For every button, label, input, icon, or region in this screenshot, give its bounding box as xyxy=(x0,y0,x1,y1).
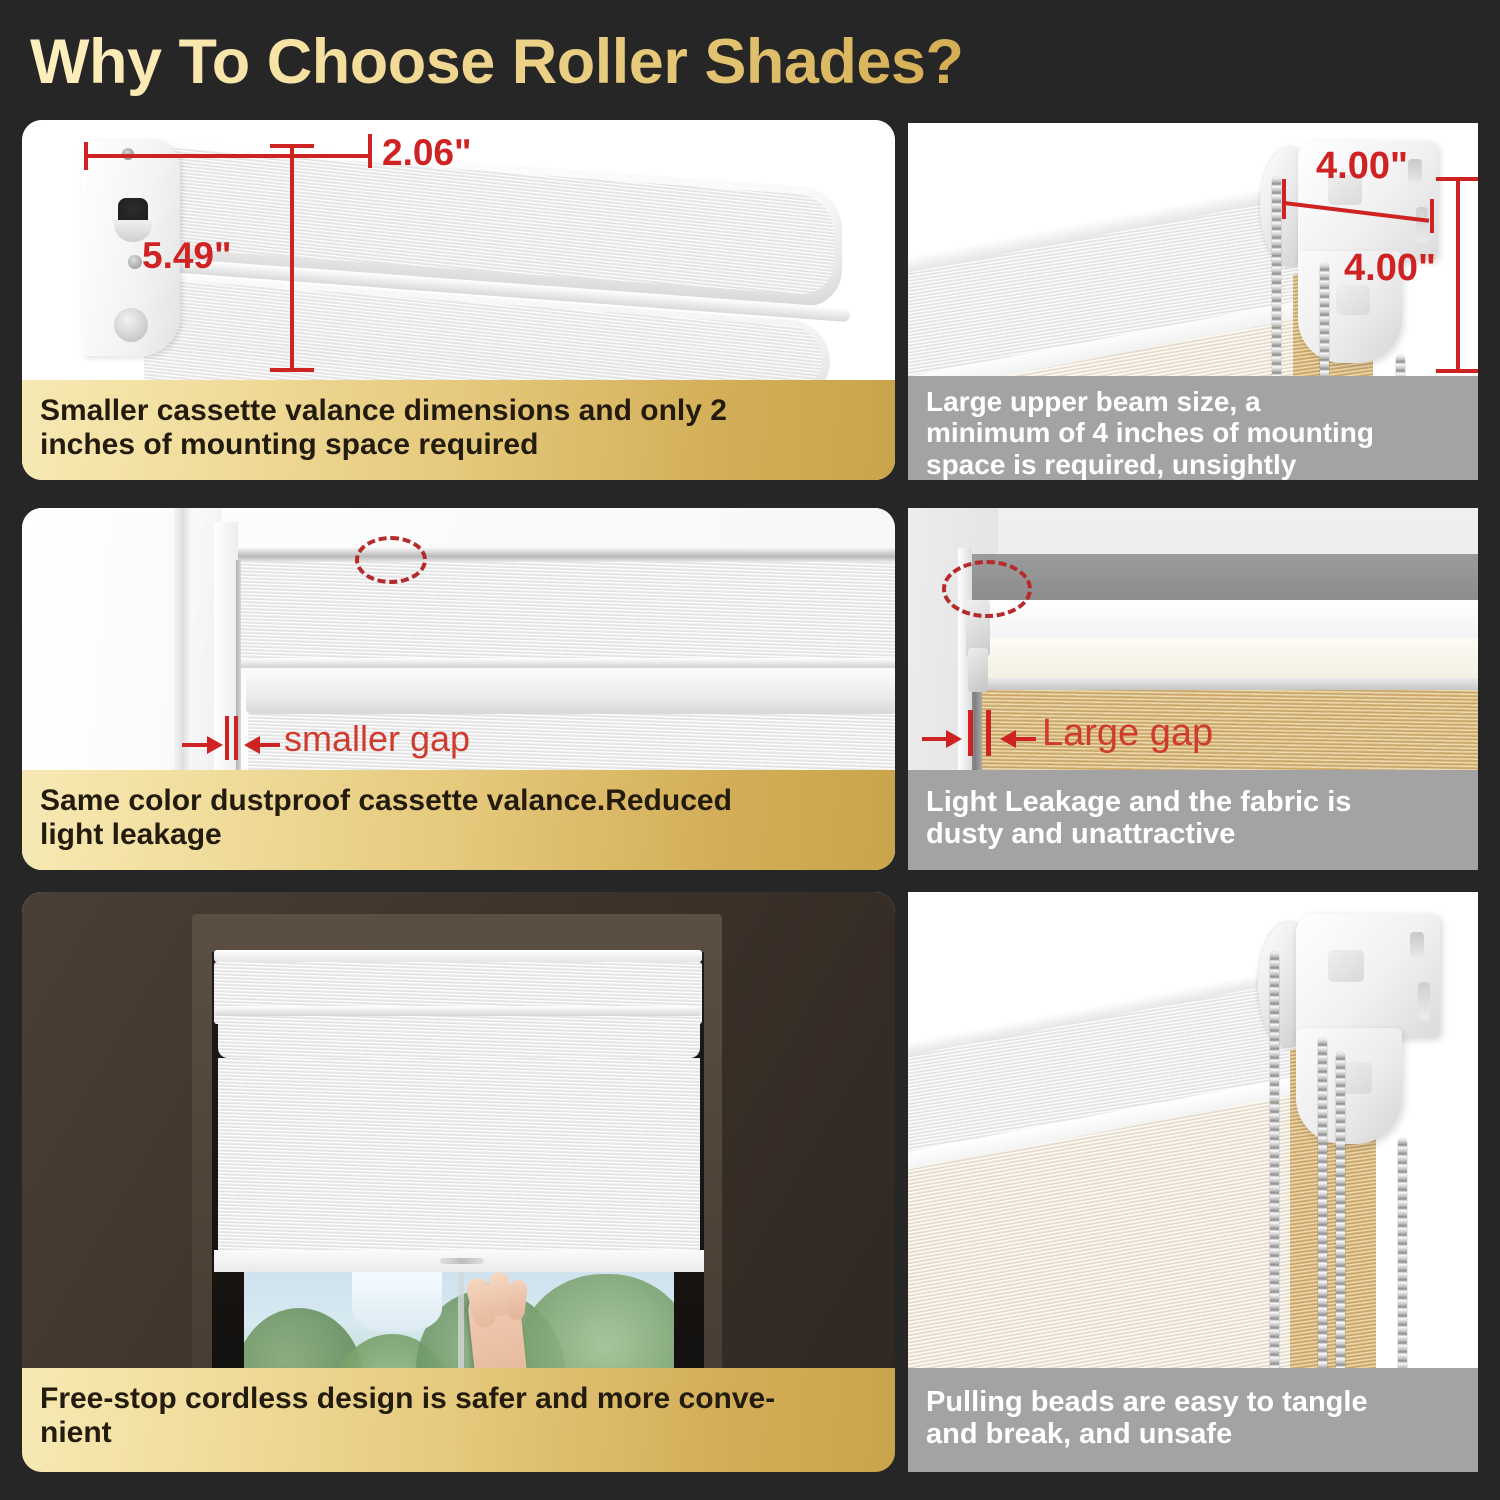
caption-line: light leakage xyxy=(40,818,877,852)
caption-bottom-right: Pulling beads are easy to tangle and bre… xyxy=(908,1368,1478,1472)
gap-label: Large gap xyxy=(1042,712,1213,755)
width-dimension-line xyxy=(84,154,372,158)
caption-line: Large upper beam size, a xyxy=(926,386,1460,417)
caption-line: dusty and unattractive xyxy=(926,818,1460,850)
caption-line: Free-stop cordless design is safer and m… xyxy=(40,1382,877,1416)
panel-top-left: 2.06" 5.49" Smaller cassette valance dim… xyxy=(22,120,895,480)
panel-top-right: 4.00" 4.00" Large upper beam size, a min… xyxy=(908,123,1478,480)
panel-mid-right: Large gap Light Leakage and the fabric i… xyxy=(908,508,1478,870)
height-dimension-line xyxy=(1456,177,1460,373)
caption-line: Same color dustproof cassette valance.Re… xyxy=(40,784,877,818)
caption-line: space is required, unsightly xyxy=(926,449,1460,480)
page-title: Why To Choose Roller Shades? xyxy=(30,22,1230,102)
highlight-ellipse xyxy=(355,536,427,584)
panel-bottom-right: Pulling beads are easy to tangle and bre… xyxy=(908,892,1478,1472)
height-dimension-label: 5.49" xyxy=(142,235,232,277)
caption-mid-left: Same color dustproof cassette valance.Re… xyxy=(22,770,895,870)
caption-line: minimum of 4 inches of mounting xyxy=(926,417,1460,448)
height-dimension-line xyxy=(290,144,294,372)
infographic-page: Why To Choose Roller Shades? xyxy=(0,0,1500,1500)
caption-line: Smaller cassette valance dimensions and … xyxy=(40,394,877,428)
panel-bottom-left: Free-stop cordless design is safer and m… xyxy=(22,892,895,1472)
caption-mid-right: Light Leakage and the fabric is dusty an… xyxy=(908,770,1478,870)
caption-top-right: Large upper beam size, a minimum of 4 in… xyxy=(908,376,1478,480)
caption-line: inches of mounting space required xyxy=(40,428,877,462)
caption-bottom-left: Free-stop cordless design is safer and m… xyxy=(22,1368,895,1472)
gap-label: smaller gap xyxy=(284,718,470,760)
width-dimension-label: 2.06" xyxy=(382,132,472,174)
height-dimension-label: 4.00" xyxy=(1344,247,1436,290)
caption-line: Pulling beads are easy to tangle xyxy=(926,1386,1460,1418)
caption-line: nient xyxy=(40,1416,877,1450)
panel-mid-left: smaller gap Same color dustproof cassett… xyxy=(22,508,895,870)
width-dimension-label: 4.00" xyxy=(1316,145,1408,188)
caption-line: and break, and unsafe xyxy=(926,1418,1460,1450)
caption-top-left: Smaller cassette valance dimensions and … xyxy=(22,380,895,480)
highlight-ellipse xyxy=(942,560,1032,618)
gap-arrow-right-icon xyxy=(946,730,962,748)
caption-line: Light Leakage and the fabric is xyxy=(926,786,1460,818)
